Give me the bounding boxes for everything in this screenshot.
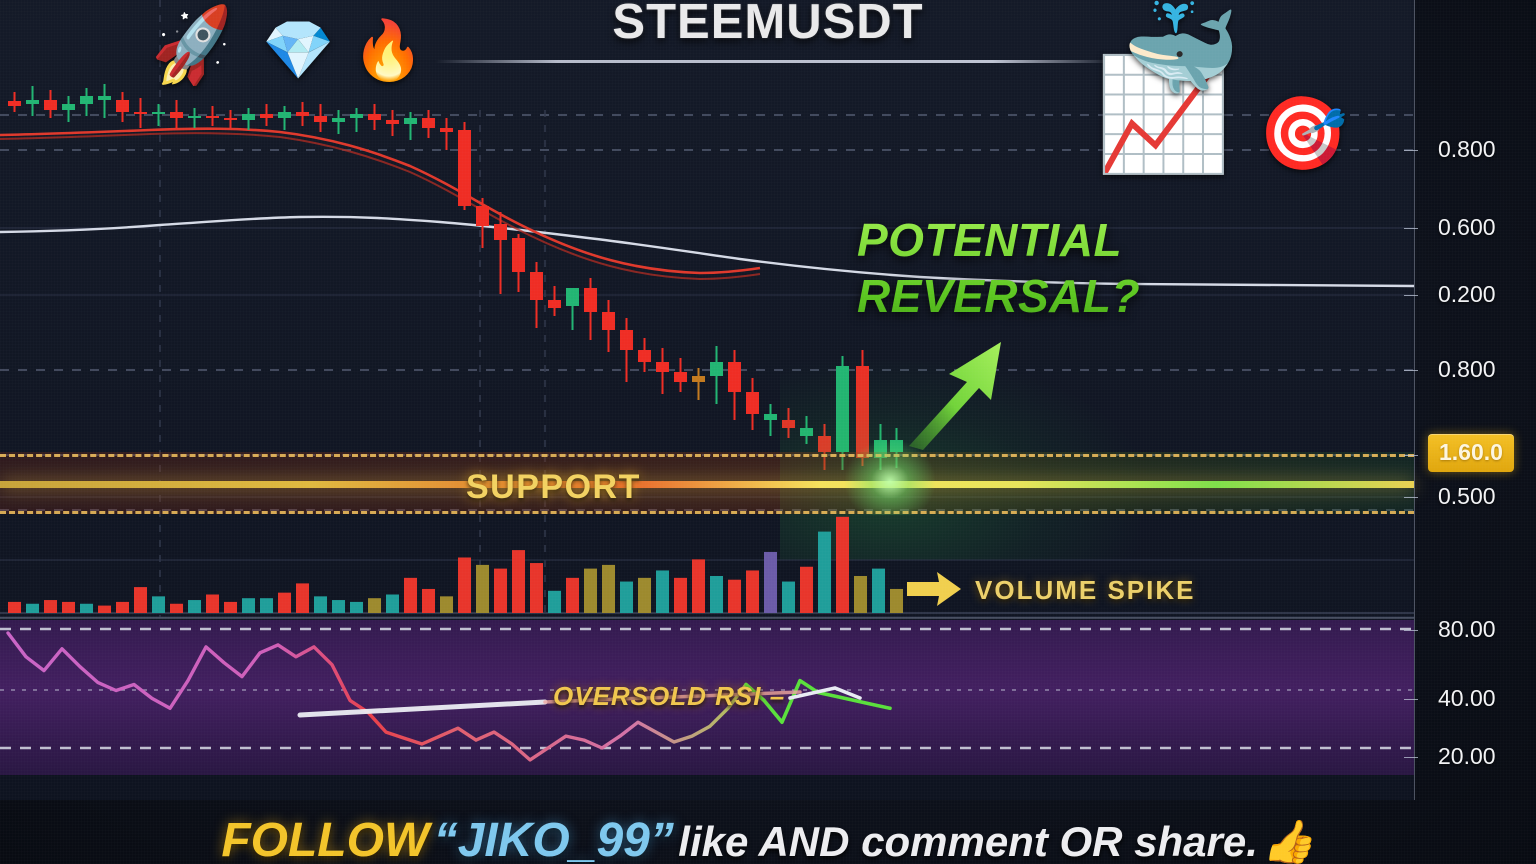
chart-canvas: SUPPORT POTENTIAL REVERSAL? <box>0 0 1536 864</box>
rocket-emoji: 🚀 <box>146 6 242 87</box>
rsi-tick-1: 40.00 <box>1438 685 1496 712</box>
axis-line <box>1414 0 1415 800</box>
support-line <box>0 481 1414 488</box>
price-tick-1: 0.600 <box>1438 214 1496 241</box>
rsi-trendline <box>300 702 545 715</box>
thumbs-up-emoji: 👍 <box>1262 818 1314 864</box>
reversal-line-1: POTENTIAL <box>857 212 1140 268</box>
diamond-emoji: 💎 <box>262 22 334 80</box>
reversal-line-2: REVERSAL? <box>857 268 1140 324</box>
volume-spike-annotation: VOLUME SPIKE <box>975 575 1195 606</box>
footer-cta: FOLLOW “JIKO_99” like AND comment OR sha… <box>0 813 1536 864</box>
rsi-panel-divider <box>0 617 1414 619</box>
tick-mark <box>1404 699 1418 700</box>
oversold-rsi-annotation: OVERSOLD RSI – <box>553 681 785 712</box>
fire-emoji: 🔥 <box>352 22 424 80</box>
support-upper-dash <box>0 454 1414 457</box>
price-tick-4: 0.500 <box>1438 483 1496 510</box>
title-divider <box>435 60 1115 63</box>
volume-panel <box>0 505 1414 617</box>
tick-mark <box>1404 228 1418 229</box>
price-tick-0: 0.800 <box>1438 136 1496 163</box>
footer-follow-text: FOLLOW <box>221 814 429 864</box>
footer-handle-text: “JIKO_99” <box>434 814 674 864</box>
price-tick-2: 0.200 <box>1438 281 1496 308</box>
price-tick-3: 0.800 <box>1438 356 1496 383</box>
reversal-arrow-icon <box>905 330 1015 450</box>
tick-mark <box>1404 150 1418 151</box>
tick-mark <box>1404 370 1418 371</box>
footer-rest-text: like AND comment OR share. <box>678 818 1258 864</box>
volume-bars <box>8 517 903 613</box>
tick-mark <box>1404 295 1418 296</box>
tick-mark <box>1404 455 1418 456</box>
support-label: SUPPORT <box>466 468 641 507</box>
whale-emoji: 🐳 <box>1122 2 1240 97</box>
tick-mark <box>1404 630 1418 631</box>
current-price-badge[interactable]: 1.60.0 <box>1428 434 1514 472</box>
tick-mark <box>1404 757 1418 758</box>
tick-mark <box>1404 497 1418 498</box>
target-emoji: 🎯 <box>1258 98 1348 170</box>
potential-reversal-annotation: POTENTIAL REVERSAL? <box>857 212 1140 324</box>
rsi-tick-0: 80.00 <box>1438 616 1496 643</box>
price-axis[interactable]: 0.800 0.600 0.200 0.800 1.60.0 0.500 80.… <box>1414 0 1536 800</box>
rsi-tick-2: 20.00 <box>1438 743 1496 770</box>
support-lower-dash <box>0 511 1414 514</box>
volume-svg <box>0 505 1414 617</box>
volume-spike-arrow-icon <box>905 568 963 610</box>
